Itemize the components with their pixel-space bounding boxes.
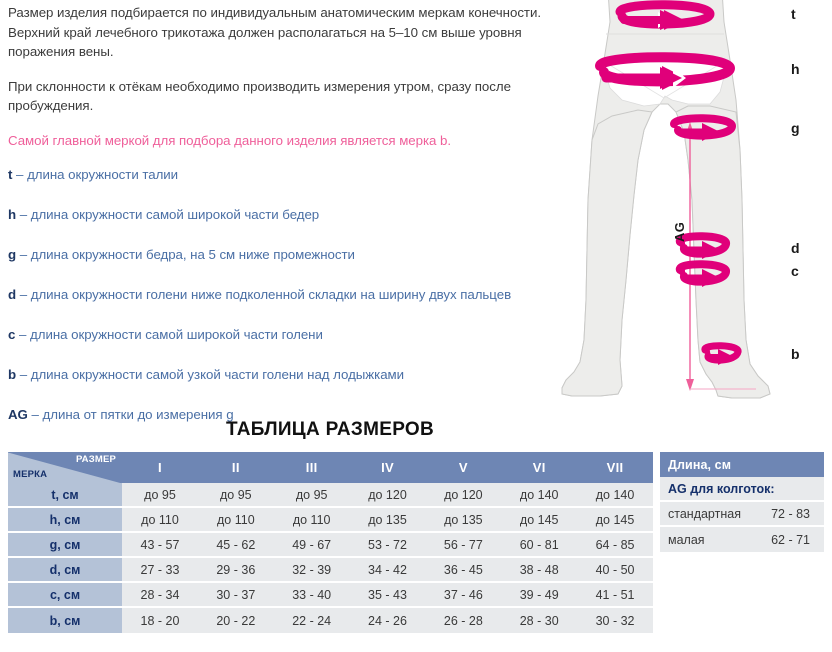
measurement-legend-h: h – длина окружности самой широкой части… xyxy=(8,206,568,224)
diagram-label-g: g xyxy=(791,121,800,135)
measurement-key-b: b xyxy=(8,367,16,382)
corner-measure-label: МЕРКА xyxy=(13,469,47,480)
measurement-key-d: d xyxy=(8,287,16,302)
measurement-text-b: длина окружности самой узкой части голен… xyxy=(31,367,404,382)
cell-c-2: 30 - 37 xyxy=(198,583,274,608)
length-value-standard: 72 - 83 xyxy=(771,507,824,521)
cell-c-5: 37 - 46 xyxy=(425,583,501,608)
cell-t-2: до 95 xyxy=(198,483,274,508)
measurement-legend-d: d – длина окружности голени ниже подколе… xyxy=(8,286,568,304)
length-value-small: 62 - 71 xyxy=(771,533,824,547)
row-label-d: d, см xyxy=(8,558,122,583)
measurement-key-c: c xyxy=(8,327,15,342)
row-label-c: c, см xyxy=(8,583,122,608)
size-header-2: II xyxy=(198,452,274,483)
size-header-6: VI xyxy=(501,452,577,483)
diagram-label-t: t xyxy=(791,7,796,21)
cell-b-2: 20 - 22 xyxy=(198,608,274,633)
row-label-h: h, см xyxy=(8,508,122,533)
measurement-guide-section: Размер изделия подбирается по индивидуал… xyxy=(0,0,832,408)
instructions-column: Размер изделия подбирается по индивидуал… xyxy=(8,0,568,446)
intro-paragraph-2: При склонности к отёкам необходимо произ… xyxy=(8,77,568,116)
cell-b-6: 28 - 30 xyxy=(501,608,577,633)
size-header-7: VII xyxy=(577,452,653,483)
cell-g-3: 49 - 67 xyxy=(274,533,350,558)
measurement-text-g: длина окружности бедра, на 5 см ниже про… xyxy=(31,247,355,262)
measurement-key-h: h xyxy=(8,207,16,222)
cell-c-3: 33 - 40 xyxy=(274,583,350,608)
measurement-legend-b: b – длина окружности самой узкой части г… xyxy=(8,366,568,384)
cell-g-1: 43 - 57 xyxy=(122,533,198,558)
diagram-label-d: d xyxy=(791,241,800,255)
cell-c-1: 28 - 34 xyxy=(122,583,198,608)
measurement-dash-c: – xyxy=(19,327,26,342)
cell-d-3: 32 - 39 xyxy=(274,558,350,583)
length-name-standard: стандартная xyxy=(660,507,771,521)
cell-h-2: до 110 xyxy=(198,508,274,533)
intro-paragraph-1: Размер изделия подбирается по индивидуал… xyxy=(8,0,568,62)
key-measurement-note: Самой главной меркой для подбора данного… xyxy=(8,131,568,150)
cell-b-4: 24 - 26 xyxy=(350,608,426,633)
cell-t-3: до 95 xyxy=(274,483,350,508)
page-title: ТАБЛИЦА РАЗМЕРОВ xyxy=(0,419,660,441)
cell-t-5: до 120 xyxy=(425,483,501,508)
size-header-1: I xyxy=(122,452,198,483)
measurement-text-c: длина окружности самой широкой части гол… xyxy=(30,327,323,342)
measurement-legend-g: g – длина окружности бедра, на 5 см ниже… xyxy=(8,246,568,264)
row-label-t: t, см xyxy=(8,483,122,508)
cell-t-7: до 140 xyxy=(577,483,653,508)
measurement-key-t: t xyxy=(8,167,12,182)
cell-b-3: 22 - 24 xyxy=(274,608,350,633)
length-table-header: Длина, см xyxy=(660,452,824,477)
cell-g-7: 64 - 85 xyxy=(577,533,653,558)
corner-size-label: РАЗМЕР xyxy=(76,454,116,465)
cell-d-7: 40 - 50 xyxy=(577,558,653,583)
measurement-legend-c: c – длина окружности самой широкой части… xyxy=(8,326,568,344)
measurement-dash-b: – xyxy=(20,367,27,382)
cell-g-6: 60 - 81 xyxy=(501,533,577,558)
measurement-text-d: длина окружности голени ниже подколенной… xyxy=(31,287,511,302)
cell-h-7: до 145 xyxy=(577,508,653,533)
measurement-key-g: g xyxy=(8,247,16,262)
cell-g-4: 53 - 72 xyxy=(350,533,426,558)
length-group-title: AG для колготок: xyxy=(660,477,824,502)
cell-h-6: до 145 xyxy=(501,508,577,533)
cell-h-1: до 110 xyxy=(122,508,198,533)
diagram-label-ag: AG xyxy=(673,222,686,242)
cell-d-2: 29 - 36 xyxy=(198,558,274,583)
size-chart-table: РАЗМЕР МЕРКА I II III IV V VI VII t, см … xyxy=(8,452,653,633)
cell-d-6: 38 - 48 xyxy=(501,558,577,583)
table-row: g, см 43 - 57 45 - 62 49 - 67 53 - 72 56… xyxy=(8,533,653,558)
cell-h-5: до 135 xyxy=(425,508,501,533)
measurement-dash-t: – xyxy=(16,167,23,182)
length-row-standard: стандартная 72 - 83 xyxy=(660,502,824,527)
measurement-text-t: длина окружности талии xyxy=(27,167,178,182)
cell-g-2: 45 - 62 xyxy=(198,533,274,558)
cell-d-1: 27 - 33 xyxy=(122,558,198,583)
cell-t-1: до 95 xyxy=(122,483,198,508)
length-name-small: малая xyxy=(660,533,771,547)
length-table: Длина, см AG для колготок: стандартная 7… xyxy=(660,452,824,552)
table-row: c, см 28 - 34 30 - 37 33 - 40 35 - 43 37… xyxy=(8,583,653,608)
cell-d-4: 34 - 42 xyxy=(350,558,426,583)
table-row: b, см 18 - 20 20 - 22 22 - 24 24 - 26 26… xyxy=(8,608,653,633)
cell-h-3: до 110 xyxy=(274,508,350,533)
measurement-dash-g: – xyxy=(20,247,27,262)
cell-d-5: 36 - 45 xyxy=(425,558,501,583)
measurement-dash-d: – xyxy=(20,287,27,302)
diagram-label-c: c xyxy=(791,264,799,278)
measurement-legend-t: t – длина окружности талии xyxy=(8,166,568,184)
row-label-g: g, см xyxy=(8,533,122,558)
table-row: h, см до 110 до 110 до 110 до 135 до 135… xyxy=(8,508,653,533)
table-row: t, см до 95 до 95 до 95 до 120 до 120 до… xyxy=(8,483,653,508)
anatomical-measurement-diagram: t h g d c b AG xyxy=(560,0,832,408)
cell-c-6: 39 - 49 xyxy=(501,583,577,608)
cell-b-1: 18 - 20 xyxy=(122,608,198,633)
cell-g-5: 56 - 77 xyxy=(425,533,501,558)
cell-b-7: 30 - 32 xyxy=(577,608,653,633)
table-corner-header: РАЗМЕР МЕРКА xyxy=(8,452,122,483)
diagram-label-h: h xyxy=(791,62,800,76)
size-header-4: IV xyxy=(350,452,426,483)
length-row-small: малая 62 - 71 xyxy=(660,527,824,552)
cell-t-4: до 120 xyxy=(350,483,426,508)
size-table-header-row: РАЗМЕР МЕРКА I II III IV V VI VII xyxy=(8,452,653,483)
table-row: d, см 27 - 33 29 - 36 32 - 39 34 - 42 36… xyxy=(8,558,653,583)
cell-h-4: до 135 xyxy=(350,508,426,533)
cell-c-4: 35 - 43 xyxy=(350,583,426,608)
size-header-5: V xyxy=(425,452,501,483)
cell-c-7: 41 - 51 xyxy=(577,583,653,608)
diagram-label-b: b xyxy=(791,347,800,361)
measurement-text-h: длина окружности самой широкой части бед… xyxy=(31,207,319,222)
cell-t-6: до 140 xyxy=(501,483,577,508)
row-label-b: b, см xyxy=(8,608,122,633)
size-header-3: III xyxy=(274,452,350,483)
measurement-dash-h: – xyxy=(20,207,27,222)
cell-b-5: 26 - 28 xyxy=(425,608,501,633)
